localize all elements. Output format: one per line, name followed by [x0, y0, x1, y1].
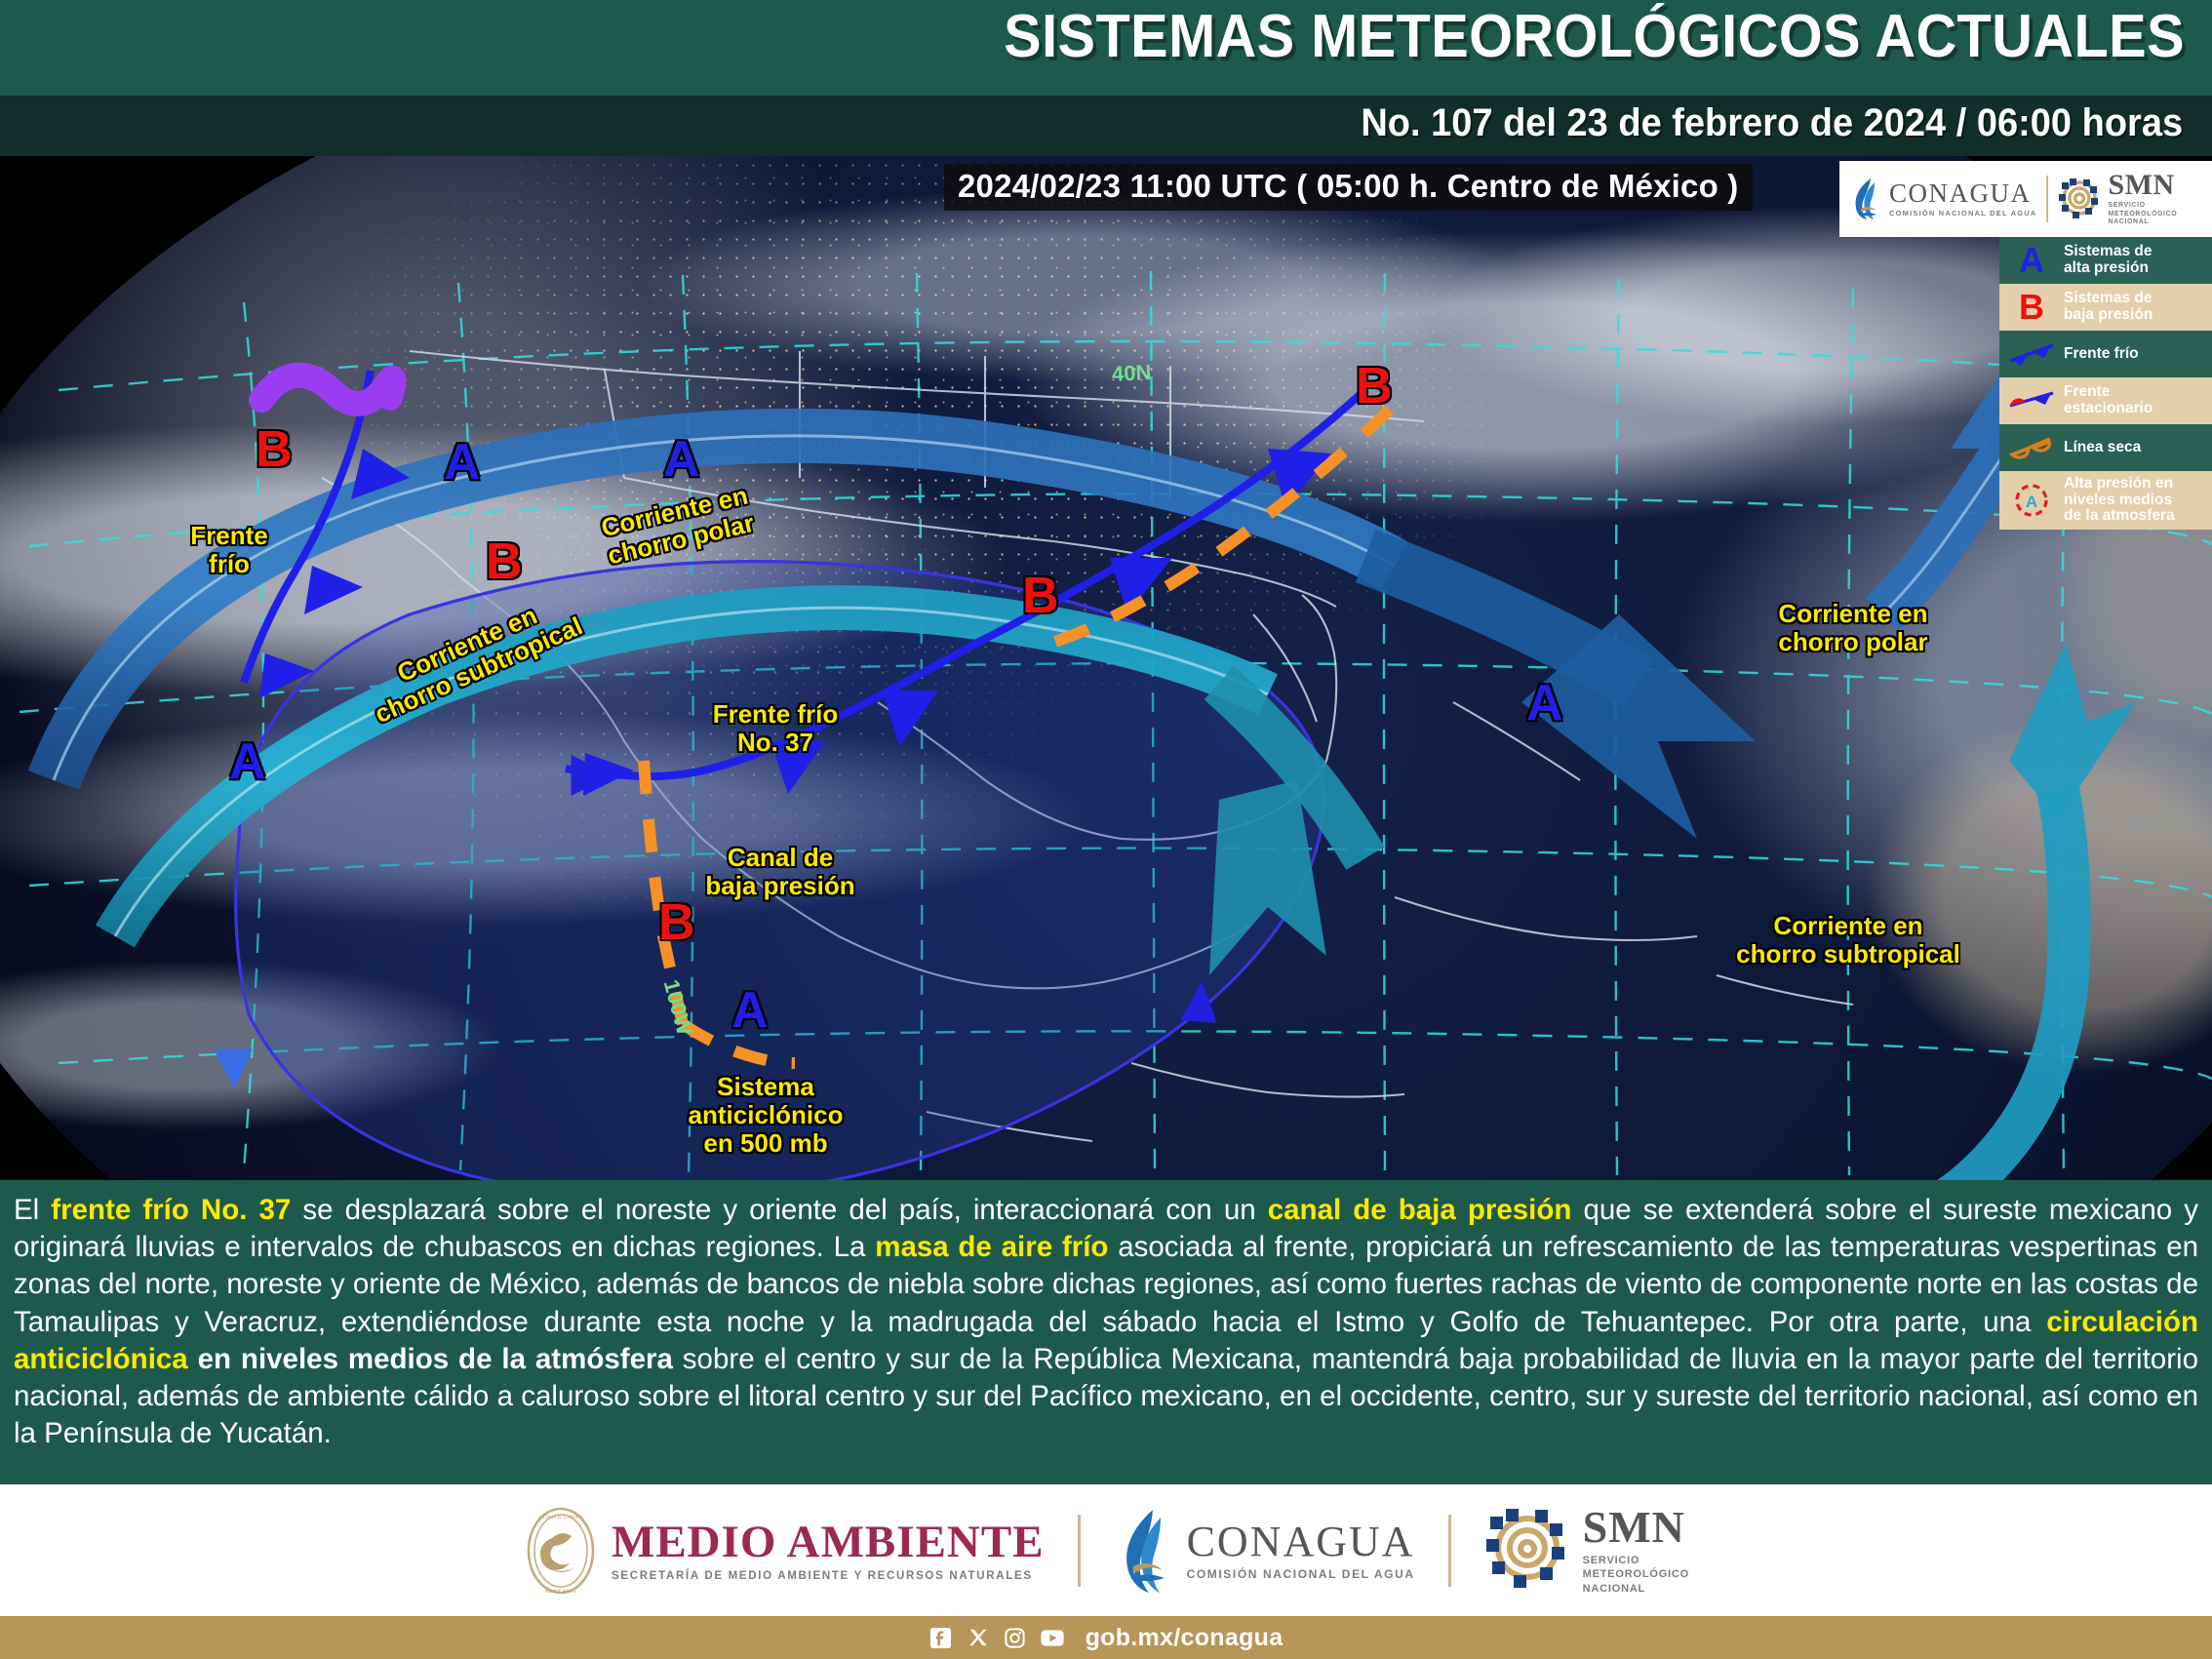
- youtube-icon[interactable]: [1041, 1626, 1064, 1649]
- letter-b-red-icon: B: [2006, 289, 2057, 326]
- satellite-map[interactable]: 40N 100W Frente frío Corriente en chorro…: [0, 156, 2212, 1180]
- smn-logo: SMN SERVICIO METEOROLÓGICO NACIONAL: [2058, 171, 2177, 227]
- medio-ambiente-logo: ESTADOS UNIDOS MEXICANOS MEDIO AMBIENTE …: [523, 1503, 1045, 1599]
- symbol-alta-presion-atlantico: A: [1526, 678, 1563, 729]
- x-twitter-icon[interactable]: [967, 1626, 990, 1649]
- svg-text:ESTADOS UNIDOS: ESTADOS UNIDOS: [538, 1515, 583, 1521]
- legend-label-frente-estacionario: Frente estacionario: [2064, 384, 2153, 416]
- smn-spiral-icon-footer: [1484, 1505, 1570, 1595]
- legend-label-linea-seca: Línea seca: [2064, 440, 2141, 456]
- label-sistema-anticiclonico: Sistema anticiclónico en 500 mb: [663, 1073, 868, 1158]
- footer-logos: ESTADOS UNIDOS MEXICANOS MEDIO AMBIENTE …: [0, 1484, 2212, 1616]
- map-legend: A Sistemas de alta presión B Sistemas de…: [1999, 237, 2212, 530]
- legend-item-frente-frio: Frente frío: [1999, 331, 2212, 377]
- legend-label-baja-presion: Sistemas de baja presión: [2064, 291, 2153, 323]
- dry-line-icon: [2006, 429, 2057, 466]
- conagua-water-drop-icon-footer: [1114, 1506, 1174, 1596]
- symbol-alta-presion-500mb: A: [731, 985, 769, 1036]
- stationary-front-icon: [2006, 382, 2057, 419]
- legend-item-linea-seca: Línea seca: [1999, 424, 2212, 471]
- smn-wordmark: SMN: [2108, 171, 2177, 200]
- letter-a-blue-icon: A: [2006, 242, 2057, 279]
- footer-conagua-logo: CONAGUA COMISIÓN NACIONAL DEL AGUA: [1114, 1506, 1415, 1596]
- svg-text:MEXICANOS: MEXICANOS: [545, 1589, 576, 1595]
- footer-smn-tagline: SERVICIO METEOROLÓGICO NACIONAL: [1583, 1554, 1689, 1596]
- grid-label-40n: 40N: [1111, 360, 1152, 387]
- symbol-baja-presion-golfo-eua: B: [1022, 571, 1059, 621]
- facebook-icon[interactable]: [929, 1626, 953, 1649]
- label-frente-frio-noroeste: Frente frío: [166, 522, 293, 578]
- legend-label-alta-niveles-medios: Alta presión en niveles medios de la atm…: [2064, 476, 2175, 525]
- symbol-alta-presion-oeste-1: A: [444, 437, 481, 488]
- purple-trough-northwest: [261, 375, 394, 404]
- mexico-coat-of-arms-icon: ESTADOS UNIDOS MEXICANOS: [523, 1503, 599, 1599]
- svg-text:A: A: [2026, 493, 2037, 511]
- legend-item-alta-presion: A Sistemas de alta presión: [1999, 237, 2212, 284]
- medio-ambiente-wordmark: MEDIO AMBIENTE: [612, 1520, 1045, 1565]
- page-title: SISTEMAS METEOROLÓGICOS ACTUALES: [1004, 2, 2185, 71]
- legend-symbol-a: A: [2019, 243, 2044, 278]
- symbol-baja-presion-atlantico: B: [1356, 361, 1393, 412]
- social-url[interactable]: gob.mx/conagua: [1086, 1624, 1284, 1652]
- satellite-timestamp: 2024/02/23 11:00 UTC ( 05:00 h. Centro d…: [944, 164, 1753, 211]
- conagua-water-drop-icon: [1849, 177, 1882, 221]
- conagua-wordmark: CONAGUA: [1889, 180, 2036, 207]
- legend-item-alta-niveles-medios: A Alta presión en niveles medios de la a…: [1999, 471, 2212, 530]
- forecast-paragraph: El frente frío No. 37 se desplazará sobr…: [14, 1194, 2198, 1449]
- subtropical-jet-stream-east: [1726, 790, 2070, 1180]
- legend-label-frente-frio: Frente frío: [2064, 346, 2139, 363]
- social-bar: gob.mx/conagua: [0, 1616, 2212, 1659]
- instagram-icon[interactable]: [1004, 1626, 1027, 1649]
- bulletin-number: No. 107 del 23 de febrero de 2024 / 06:0…: [1361, 101, 2183, 145]
- label-canal-baja-presion: Canal de baja presión: [683, 844, 878, 900]
- symbol-alta-presion-oeste-2: A: [663, 434, 700, 485]
- symbol-baja-presion-noroeste: B: [256, 424, 293, 475]
- medio-ambiente-tagline: SECRETARÍA DE MEDIO AMBIENTE Y RECURSOS …: [612, 1570, 1045, 1582]
- forecast-text: El frente frío No. 37 se desplazará sobr…: [0, 1180, 2212, 1484]
- footer-conagua-tagline: COMISIÓN NACIONAL DEL AGUA: [1187, 1567, 1415, 1581]
- conagua-tagline: COMISIÓN NACIONAL DEL AGUA: [1889, 209, 2036, 217]
- footer-divider-1: [1078, 1515, 1081, 1587]
- label-corriente-chorro-subtropical-este: Corriente en chorro subtropical: [1731, 912, 1965, 968]
- footer-conagua-wordmark: CONAGUA: [1187, 1521, 1415, 1563]
- symbol-baja-presion-sureste-mexico: B: [658, 897, 695, 948]
- label-corriente-chorro-polar-este: Corriente en chorro polar: [1751, 600, 1955, 656]
- symbol-alta-presion-pacifico: A: [229, 736, 266, 787]
- logo-divider: [2046, 176, 2048, 222]
- legend-item-frente-estacionario: Frente estacionario: [1999, 377, 2212, 424]
- footer-smn-wordmark: SMN: [1583, 1505, 1689, 1550]
- legend-item-baja-presion: B Sistemas de baja presión: [1999, 284, 2212, 331]
- map-annotations-svg: [0, 156, 2212, 1180]
- top-logo-strip: CONAGUA COMISIÓN NACIONAL DEL AGUA SMN S…: [1839, 161, 2212, 237]
- mid-level-high-icon: A: [2006, 482, 2057, 519]
- smn-tagline: SERVICIO METEOROLÓGICO NACIONAL: [2108, 202, 2177, 227]
- conagua-logo: CONAGUA COMISIÓN NACIONAL DEL AGUA: [1849, 177, 2036, 221]
- smn-spiral-icon: [2058, 177, 2101, 221]
- legend-label-alta-presion: Sistemas de alta presión: [2064, 244, 2152, 276]
- cold-front-icon: [2006, 336, 2057, 373]
- legend-symbol-b: B: [2019, 290, 2044, 325]
- label-frente-frio-37: Frente frío No. 37: [683, 700, 868, 757]
- footer-divider-2: [1448, 1515, 1451, 1587]
- symbol-baja-presion-suroeste-eua: B: [486, 536, 523, 587]
- footer-smn-logo: SMN SERVICIO METEOROLÓGICO NACIONAL: [1484, 1505, 1689, 1596]
